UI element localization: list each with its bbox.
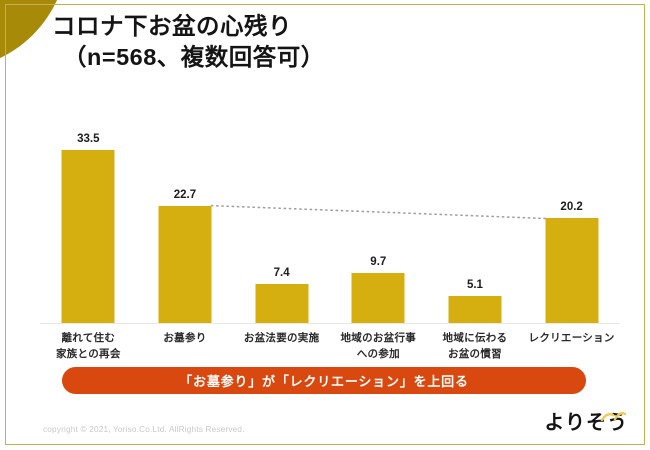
x-axis-label: 離れて住む家族との再会 [40,330,137,363]
banner-label: 「お墓参り」が「レクリエーション」を上回る [179,371,469,390]
chart-plot-area: 33.522.77.49.75.120.2 [40,92,620,324]
x-axis-labels: 離れて住む家族との再会お墓参りお盆法要の実施地域のお盆行事への参加地域に伝わるお… [40,330,620,372]
x-axis-label-line: レクリエーション [523,330,620,346]
bar[interactable] [352,273,405,323]
bar[interactable] [62,150,115,323]
bar[interactable] [158,206,211,323]
x-axis-label-line: 地域のお盆行事 [330,330,427,346]
bar-value-label: 7.4 [274,267,290,279]
bar-value-label: 5.1 [467,279,483,291]
bar-value-label: 9.7 [370,256,386,268]
logo-wordmark: よりそう [544,413,628,433]
bar[interactable] [255,284,308,322]
bar-value-label: 20.2 [560,201,582,213]
bar-value-label: 22.7 [174,189,196,201]
x-axis-label-line: 家族との再会 [40,346,137,362]
x-axis-line [40,323,620,325]
bar-slot: 22.7 [137,91,234,323]
title-line-2: （n=568、複数回答可） [52,42,622,73]
bar-slot: 20.2 [523,91,620,323]
bar-slot: 33.5 [40,91,137,323]
bar-slot: 5.1 [427,91,524,323]
x-axis-label-line: への参加 [330,346,427,362]
bar[interactable] [545,218,598,322]
x-axis-label-line: 地域に伝わる [427,330,524,346]
bar-slot: 7.4 [233,91,330,323]
bar-slot: 9.7 [330,91,427,323]
slide-canvas: コロナ下お盆の心残り （n=568、複数回答可） 33.522.77.49.75… [0,0,650,450]
copyright-text: copyright © 2021, Yoriso.Co.Ltd. AllRigh… [43,425,245,434]
highlight-banner: 「お墓参り」が「レクリエーション」を上回る [62,367,586,394]
bar-chart: 33.522.77.49.75.120.2 [40,92,620,327]
bar-value-label: 33.5 [77,133,99,145]
bar[interactable] [448,296,501,322]
yoriso-logo: よりそう [544,410,628,436]
x-axis-label: レクリエーション [523,330,620,346]
page-title: コロナ下お盆の心残り （n=568、複数回答可） [52,11,622,72]
title-line-1: コロナ下お盆の心残り [52,11,622,42]
x-axis-label: お盆法要の実施 [233,330,330,346]
x-axis-label: お墓参り [137,330,234,346]
x-axis-label-line: お盆の慣習 [427,346,524,362]
x-axis-label: 地域に伝わるお盆の慣習 [427,330,524,363]
x-axis-label: 地域のお盆行事への参加 [330,330,427,363]
x-axis-label-line: お盆法要の実施 [233,330,330,346]
x-axis-label-line: お墓参り [137,330,234,346]
x-axis-label-line: 離れて住む [40,330,137,346]
